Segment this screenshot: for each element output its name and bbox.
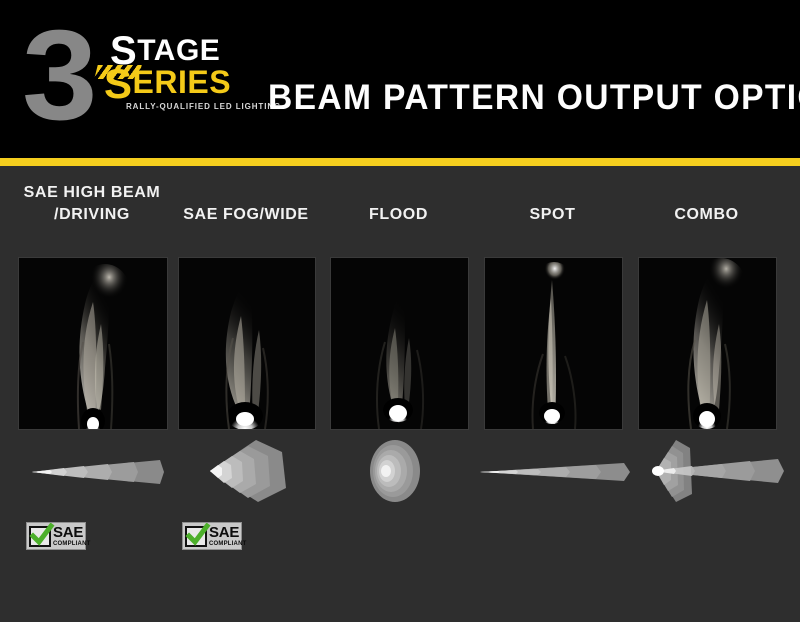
beam-diagram-driving [22,442,164,502]
beam-photo-driving-image [19,258,167,429]
column-label: COMBO [674,204,738,226]
sae-badge-sub: COMPLIANT [53,541,90,547]
logo-stage-rest: TAGE [137,34,220,67]
column-label-line2: /DRIVING [54,206,130,223]
column-combo: COMBO [638,166,775,622]
logo-tagline: RALLY-QUALIFIED LED LIGHTING [126,102,281,112]
column-label: SAE HIGH BEAM /DRIVING [2,182,182,226]
logo-wordmark: STAGE SERIES RALLY-QUALIFIED LED LIGHTIN… [110,36,260,131]
check-mark-icon [185,523,211,549]
beam-photo-combo [638,257,777,430]
column-label-line1: FLOOD [369,206,428,223]
sae-compliant-badge: SAE COMPLIANT [182,522,242,550]
beam-pattern-infographic: 3 STAGE SERIES RALLY-QUALIFIED LED LIGHT… [0,0,800,622]
stage-series-logo: 3 STAGE SERIES RALLY-QUALIFIED LED LIGHT… [22,28,252,132]
header-bar: 3 STAGE SERIES RALLY-QUALIFIED LED LIGHT… [0,0,800,158]
column-sae-high-beam-driving: SAE HIGH BEAM /DRIVING [18,166,166,622]
column-spot: SPOT [484,166,621,622]
beam-diagram-combo-shape [628,436,788,506]
logo-series-capital: S [104,60,133,107]
column-label: FLOOD [369,204,428,226]
beam-photo-spot-image [485,258,622,429]
beam-photo-driving [18,257,168,430]
sae-badge-main: SAE [53,525,90,540]
sae-badge-text: SAE COMPLIANT [53,525,90,547]
sae-compliant-badge: SAE COMPLIANT [26,522,86,550]
sae-badge-sub: COMPLIANT [209,541,246,547]
beam-diagram-fog-wide-shape [174,438,320,504]
column-label-line1: SPOT [530,206,576,223]
beam-diagram-flood [362,438,436,504]
column-label-line1: SAE HIGH BEAM [24,184,161,201]
beam-diagram-driving-shape [22,442,164,502]
sae-badge-main: SAE [209,525,246,540]
checkbox-icon [185,526,207,547]
beam-columns: SAE HIGH BEAM /DRIVING [0,166,800,622]
beam-diagram-fog-wide [174,438,320,504]
logo-series-rest: ERIES [133,64,232,100]
column-label: SPOT [530,204,576,226]
column-label: SAE FOG/WIDE [183,204,308,226]
beam-photo-fog-wide-image [179,258,315,429]
column-sae-fog-wide: SAE FOG/WIDE [178,166,314,622]
beam-diagram-spot [472,444,632,500]
beam-photo-spot [484,257,623,430]
beam-photo-flood-image [331,258,468,429]
column-label-line1: SAE FOG/WIDE [183,206,308,223]
accent-divider [0,158,800,166]
beam-diagram-flood-shape [362,438,436,504]
beam-photo-flood [330,257,469,430]
beam-diagram-spot-shape [472,444,632,500]
page-title: BEAM PATTERN OUTPUT OPTIONS [268,78,767,120]
sae-badge-text: SAE COMPLIANT [209,525,246,547]
column-flood: FLOOD [330,166,467,622]
beam-photo-fog-wide [178,257,316,430]
checkbox-icon [29,526,51,547]
column-label-line1: COMBO [674,206,738,223]
logo-series-text: SERIES [104,66,231,100]
beam-diagram-combo [628,436,788,506]
beam-photo-combo-image [639,258,776,429]
check-mark-icon [29,523,55,549]
